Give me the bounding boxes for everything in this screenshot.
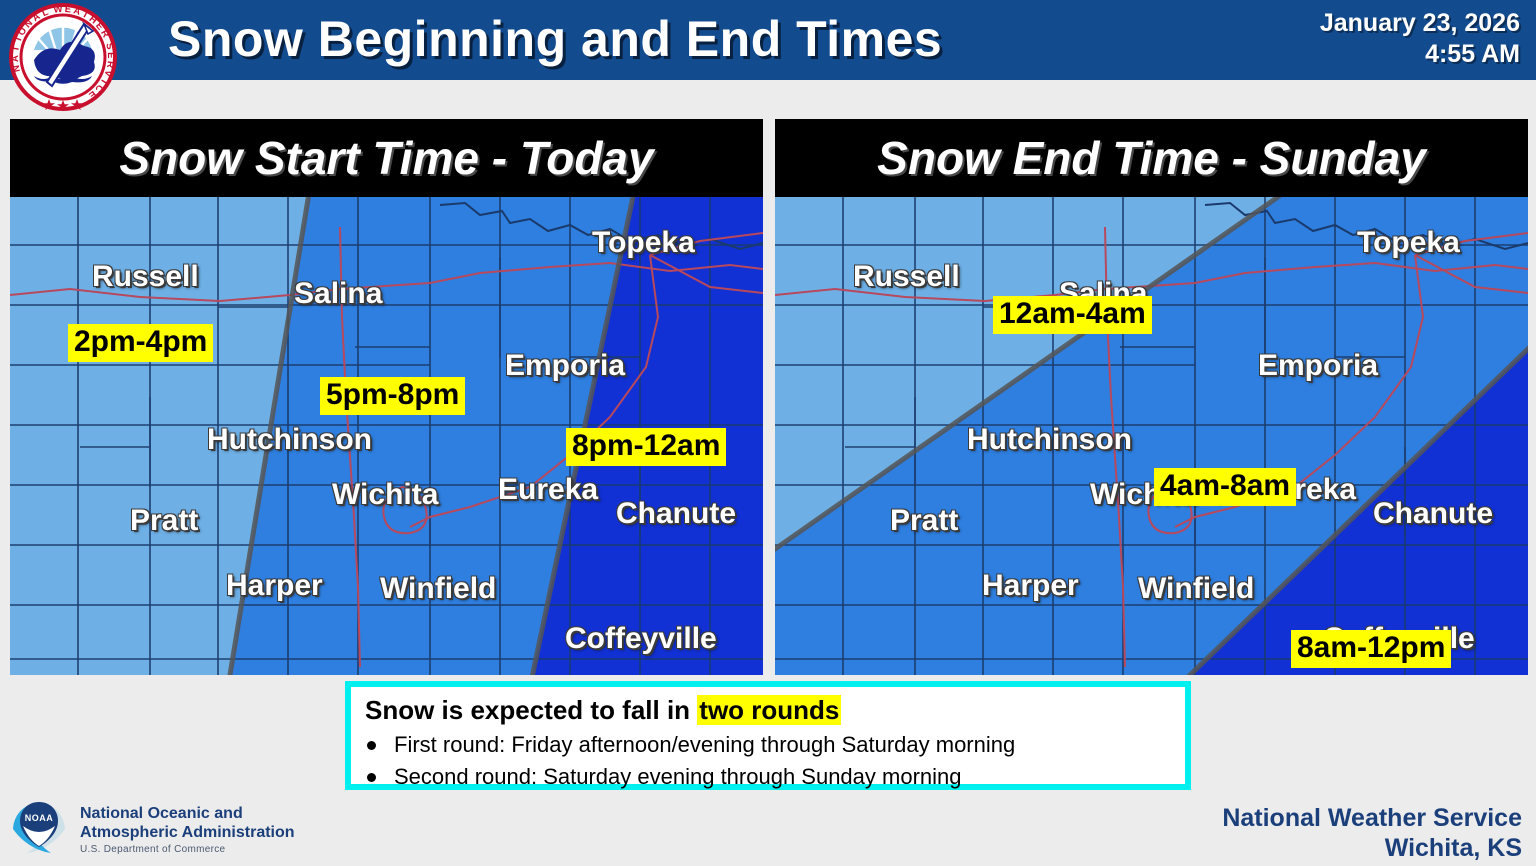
issuance-date: January 23, 2026 xyxy=(1320,8,1520,39)
city-label: Emporia xyxy=(505,349,625,383)
bullet-text: Second round: Saturday evening through S… xyxy=(394,764,962,790)
noaa-logo-icon: NOAA xyxy=(8,799,70,861)
callout-heading: Snow is expected to fall in two rounds xyxy=(365,695,841,726)
city-label: Wichita xyxy=(332,478,438,512)
summary-callout-box: Snow is expected to fall in two rounds F… xyxy=(345,681,1191,790)
city-label: Pratt xyxy=(130,504,198,538)
page-title: Snow Beginning and End Times xyxy=(168,10,942,68)
city-label: Hutchinson xyxy=(967,423,1132,457)
city-label: Hutchinson xyxy=(207,423,372,457)
city-label: Pratt xyxy=(890,504,958,538)
city-label: Russell xyxy=(92,260,199,294)
city-label: Chanute xyxy=(1373,497,1493,531)
issuance-time: 4:55 AM xyxy=(1320,39,1520,70)
time-range-label: 2pm-4pm xyxy=(68,324,213,362)
footer-bar: NOAA National Oceanic and Atmospheric Ad… xyxy=(0,795,1536,864)
panel-title-end: Snow End Time - Sunday xyxy=(775,119,1528,197)
time-range-label: 5pm-8pm xyxy=(320,377,465,415)
bullet-dot-icon xyxy=(367,773,376,782)
svg-text:W: W xyxy=(53,4,63,16)
city-label: Chanute xyxy=(616,497,736,531)
snow-start-time-panel: Snow Start Time - Today xyxy=(10,119,763,675)
snow-end-time-map: RussellSalinaTopekaEmporiaHutchinsonWich… xyxy=(775,197,1528,675)
callout-heading-text: Snow is expected to fall in xyxy=(365,695,697,725)
noaa-department-line: U.S. Department of Commerce xyxy=(80,844,225,855)
city-label: Topeka xyxy=(592,226,695,260)
city-label: Winfield xyxy=(380,572,496,606)
city-label: Harper xyxy=(982,569,1079,603)
city-label: Eureka xyxy=(498,473,598,507)
list-item: Second round: Saturday evening through S… xyxy=(367,764,962,790)
time-range-label: 8am-12pm xyxy=(1291,630,1451,668)
national-weather-service-seal-icon: N A T I O N A L W E A T H E R S E R V I xyxy=(4,0,122,116)
svg-text:E: E xyxy=(64,4,71,16)
city-label: Coffeyville xyxy=(565,622,717,656)
bullet-text: First round: Friday afternoon/evening th… xyxy=(394,732,1015,758)
svg-text:A: A xyxy=(10,55,21,62)
city-label: Harper xyxy=(226,569,323,603)
noaa-agency-name: National Oceanic and Atmospheric Adminis… xyxy=(80,804,295,842)
panel-title-start: Snow Start Time - Today xyxy=(10,119,763,197)
snow-end-time-panel: Snow End Time - Sunday xyxy=(775,119,1528,675)
list-item: First round: Friday afternoon/evening th… xyxy=(367,732,1015,758)
office-name: National Weather Service xyxy=(1222,803,1522,833)
issuance-timestamp: January 23, 2026 4:55 AM xyxy=(1320,8,1520,70)
city-label: Salina xyxy=(294,277,382,311)
time-range-label: 8pm-12am xyxy=(566,428,726,466)
svg-text:E: E xyxy=(105,52,116,59)
city-label: Topeka xyxy=(1357,226,1460,260)
callout-heading-highlight: two rounds xyxy=(697,695,841,725)
header-bar: N A T I O N A L W E A T H E R S E R V I xyxy=(0,0,1536,80)
time-range-label: 12am-4am xyxy=(993,296,1152,334)
svg-text:NOAA: NOAA xyxy=(25,813,54,823)
issuing-office: National Weather Service Wichita, KS xyxy=(1222,803,1522,863)
noaa-line-1: National Oceanic and xyxy=(80,804,295,823)
time-range-label: 4am-8am xyxy=(1154,468,1296,506)
city-label: Russell xyxy=(853,260,960,294)
office-location: Wichita, KS xyxy=(1222,833,1522,863)
snow-start-time-map: RussellSalinaTopekaEmporiaHutchinsonWich… xyxy=(10,197,763,675)
bullet-dot-icon xyxy=(367,741,376,750)
city-label: Emporia xyxy=(1258,349,1378,383)
city-label: Winfield xyxy=(1138,572,1254,606)
noaa-line-2: Atmospheric Administration xyxy=(80,823,295,842)
